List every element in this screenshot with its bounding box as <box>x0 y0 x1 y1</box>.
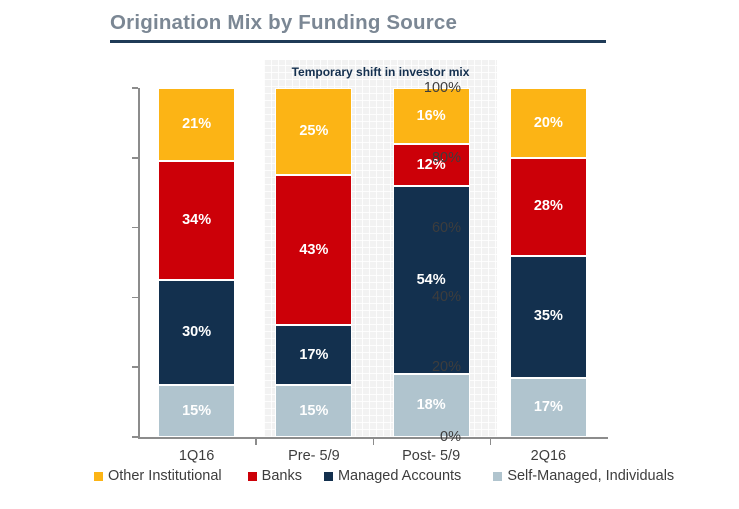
bar-segment-other-institutional[interactable]: 20% <box>510 88 587 158</box>
bar-segment-value-label: 28% <box>534 199 563 214</box>
y-axis-tick <box>132 366 138 368</box>
y-axis-label: 0% <box>401 430 461 445</box>
legend-swatch-icon <box>324 472 333 481</box>
legend-swatch-icon <box>493 472 502 481</box>
bar-segment-managed-accounts[interactable]: 17% <box>275 325 352 384</box>
legend-item-managed-accounts[interactable]: Managed Accounts <box>324 468 461 484</box>
bar-group-post-5-9[interactable]: 16%12%54%18% <box>393 88 470 437</box>
bar-segment-value-label: 21% <box>182 117 211 132</box>
bar-segment-value-label: 34% <box>182 213 211 228</box>
title-underline-rule <box>110 40 606 43</box>
x-axis-tick <box>255 438 257 445</box>
bar-segment-managed-accounts[interactable]: 30% <box>158 280 235 385</box>
bar-segment-banks[interactable]: 43% <box>275 175 352 325</box>
bar-segment-value-label: 25% <box>299 124 328 139</box>
bar-stack: 25%43%17%15% <box>275 88 352 437</box>
y-axis-label: 20% <box>401 360 461 375</box>
y-axis-tick <box>132 297 138 299</box>
bar-segment-self-managed-individuals[interactable]: 15% <box>275 385 352 437</box>
x-axis-tick <box>373 438 375 445</box>
x-axis-label-1q16: 1Q16 <box>137 448 257 464</box>
legend-label: Other Institutional <box>108 468 222 484</box>
x-axis-label-pre-5-9: Pre- 5/9 <box>254 448 374 464</box>
legend-item-self-managed-individuals[interactable]: Self-Managed, Individuals <box>493 468 674 484</box>
bar-stack: 20%28%35%17% <box>510 88 587 437</box>
y-axis-tick <box>132 436 138 438</box>
bar-segment-value-label: 18% <box>417 398 446 413</box>
y-axis-line <box>138 88 140 437</box>
bar-stack: 16%12%54%18% <box>393 88 470 437</box>
y-axis-tick <box>132 227 138 229</box>
y-axis-label: 40% <box>401 290 461 305</box>
legend-swatch-icon <box>248 472 257 481</box>
x-axis-label-post-5-9: Post- 5/9 <box>371 448 491 464</box>
chart-legend: Other InstitutionalBanksManaged Accounts… <box>94 468 654 484</box>
bar-segment-self-managed-individuals[interactable]: 15% <box>158 385 235 437</box>
bar-segment-banks[interactable]: 28% <box>510 158 587 256</box>
bar-segment-value-label: 20% <box>534 116 563 131</box>
bar-segment-other-institutional[interactable]: 21% <box>158 88 235 161</box>
bar-segment-value-label: 43% <box>299 243 328 258</box>
bar-group-pre-5-9[interactable]: 25%43%17%15% <box>275 88 352 437</box>
y-axis-label: 100% <box>401 81 461 96</box>
y-axis-tick <box>132 87 138 89</box>
y-axis-label: 80% <box>401 151 461 166</box>
bar-segment-value-label: 15% <box>299 404 328 419</box>
bar-group-1q16[interactable]: 21%34%30%15% <box>158 88 235 437</box>
legend-swatch-icon <box>94 472 103 481</box>
bar-segment-value-label: 54% <box>417 273 446 288</box>
bar-segment-managed-accounts[interactable]: 54% <box>393 186 470 374</box>
legend-label: Self-Managed, Individuals <box>507 468 674 484</box>
page-title: Origination Mix by Funding Source <box>110 10 606 36</box>
bar-segment-self-managed-individuals[interactable]: 18% <box>393 374 470 437</box>
bar-segment-value-label: 17% <box>534 400 563 415</box>
legend-item-banks[interactable]: Banks <box>248 468 302 484</box>
bar-segment-banks[interactable]: 34% <box>158 161 235 280</box>
bar-segment-value-label: 30% <box>182 325 211 340</box>
chart-plot-frame: Temporary shift in investor mix 21%34%30… <box>138 88 607 437</box>
title-block: Origination Mix by Funding Source <box>110 10 606 43</box>
bar-segment-value-label: 35% <box>534 309 563 324</box>
x-axis-tick <box>490 438 492 445</box>
bar-segment-value-label: 16% <box>417 109 446 124</box>
bar-group-2q16[interactable]: 20%28%35%17% <box>510 88 587 437</box>
legend-label: Banks <box>262 468 302 484</box>
bar-segment-other-institutional[interactable]: 16% <box>393 88 470 144</box>
chart-plot-area: Temporary shift in investor mix 21%34%30… <box>138 88 607 437</box>
bar-segment-managed-accounts[interactable]: 35% <box>510 256 587 378</box>
bar-segment-value-label: 17% <box>299 348 328 363</box>
legend-label: Managed Accounts <box>338 468 461 484</box>
bar-stack: 21%34%30%15% <box>158 88 235 437</box>
bar-segment-other-institutional[interactable]: 25% <box>275 88 352 175</box>
annotation-temporary-shift: Temporary shift in investor mix <box>264 65 497 79</box>
bar-segment-value-label: 15% <box>182 404 211 419</box>
y-axis-label: 60% <box>401 221 461 236</box>
y-axis-tick <box>132 157 138 159</box>
bar-segment-self-managed-individuals[interactable]: 17% <box>510 378 587 437</box>
x-axis-label-2q16: 2Q16 <box>488 448 608 464</box>
legend-item-other-institutional[interactable]: Other Institutional <box>94 468 222 484</box>
